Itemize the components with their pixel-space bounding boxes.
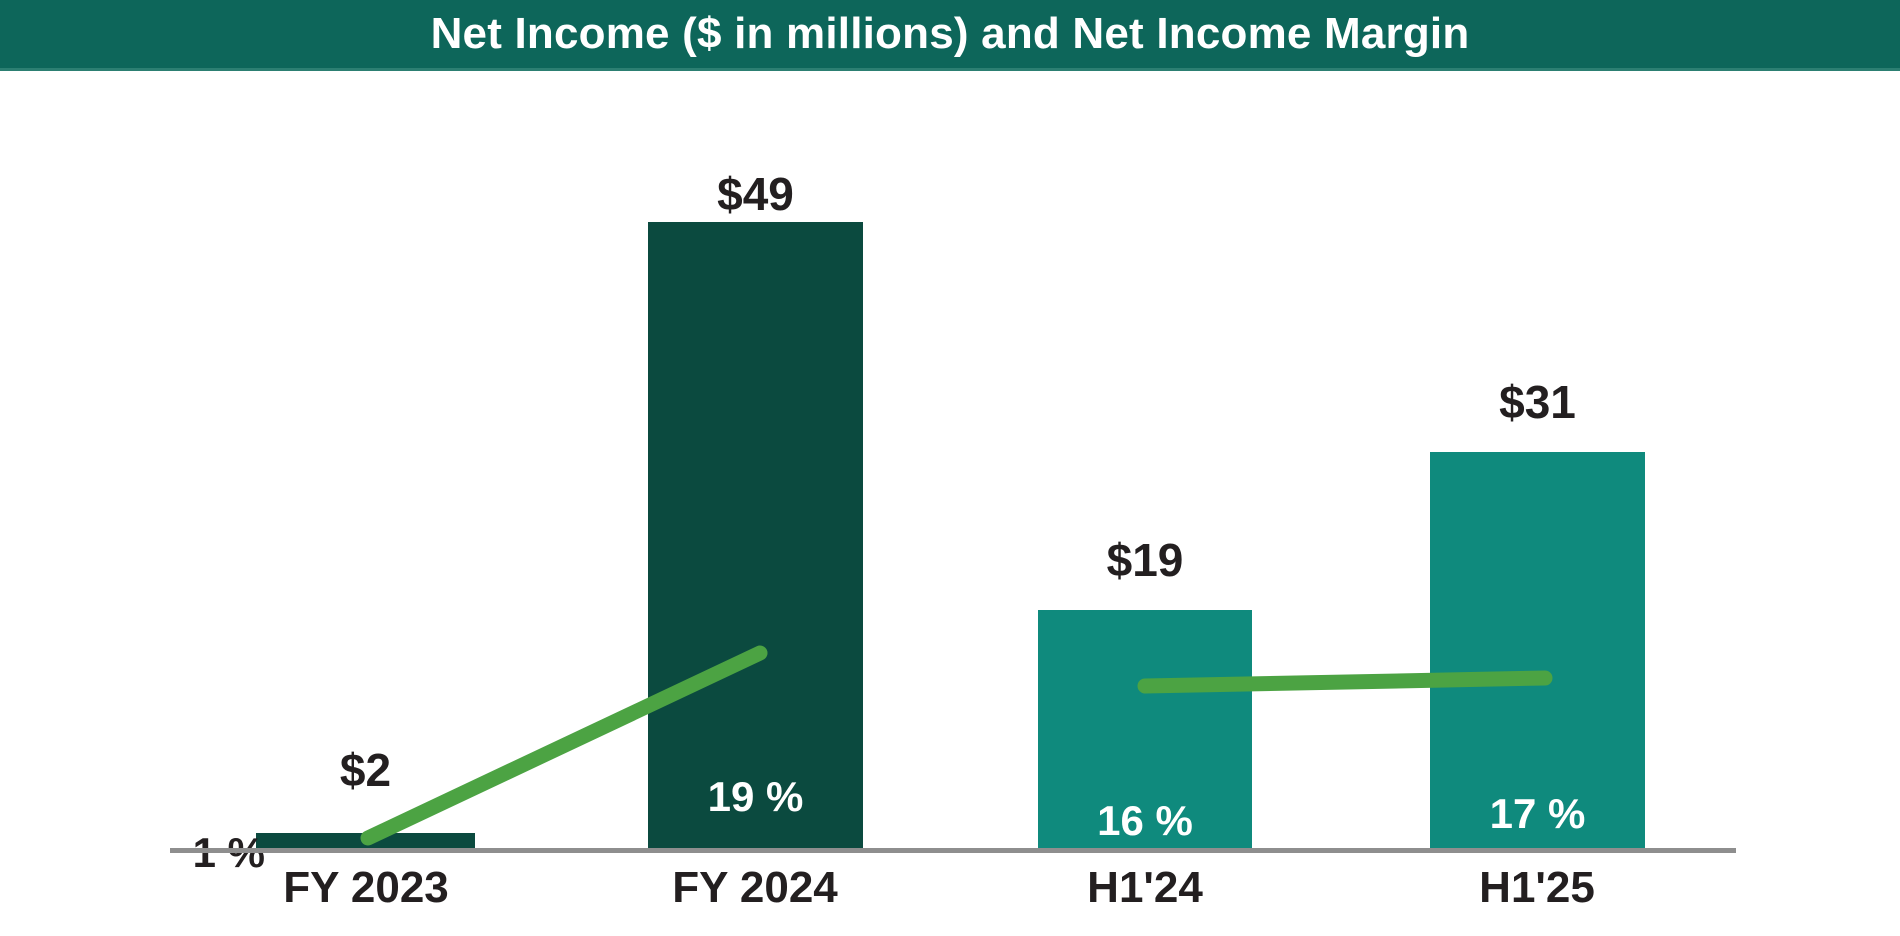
chart-root: Net Income ($ in millions) and Net Incom… <box>0 0 1900 936</box>
category-label-h1-24: H1'24 <box>1015 866 1275 910</box>
bar-fy-2024 <box>648 222 863 848</box>
category-label-h1-25: H1'25 <box>1407 866 1667 910</box>
plot-area: $2 $49 $19 $31 1 % 19 % 16 % 17 % FY 202… <box>0 71 1900 936</box>
bar-fy-2023 <box>256 833 475 848</box>
bar-value-fy-2024: $49 <box>648 171 863 217</box>
bar-value-fy-2023: $2 <box>256 747 475 793</box>
category-label-fy-2024: FY 2024 <box>625 866 885 910</box>
category-label-fy-2023: FY 2023 <box>236 866 496 910</box>
bar-h1-25 <box>1430 452 1645 848</box>
axis-baseline <box>170 848 1736 853</box>
margin-label-h1-24: 16 % <box>1038 800 1252 842</box>
bar-value-h1-24: $19 <box>1038 537 1252 583</box>
margin-label-h1-25: 17 % <box>1430 793 1645 835</box>
chart-title-banner: Net Income ($ in millions) and Net Incom… <box>0 0 1900 68</box>
bar-value-h1-25: $31 <box>1430 379 1645 425</box>
margin-label-fy-2024: 19 % <box>648 776 863 818</box>
page-title: Net Income ($ in millions) and Net Incom… <box>431 12 1470 56</box>
